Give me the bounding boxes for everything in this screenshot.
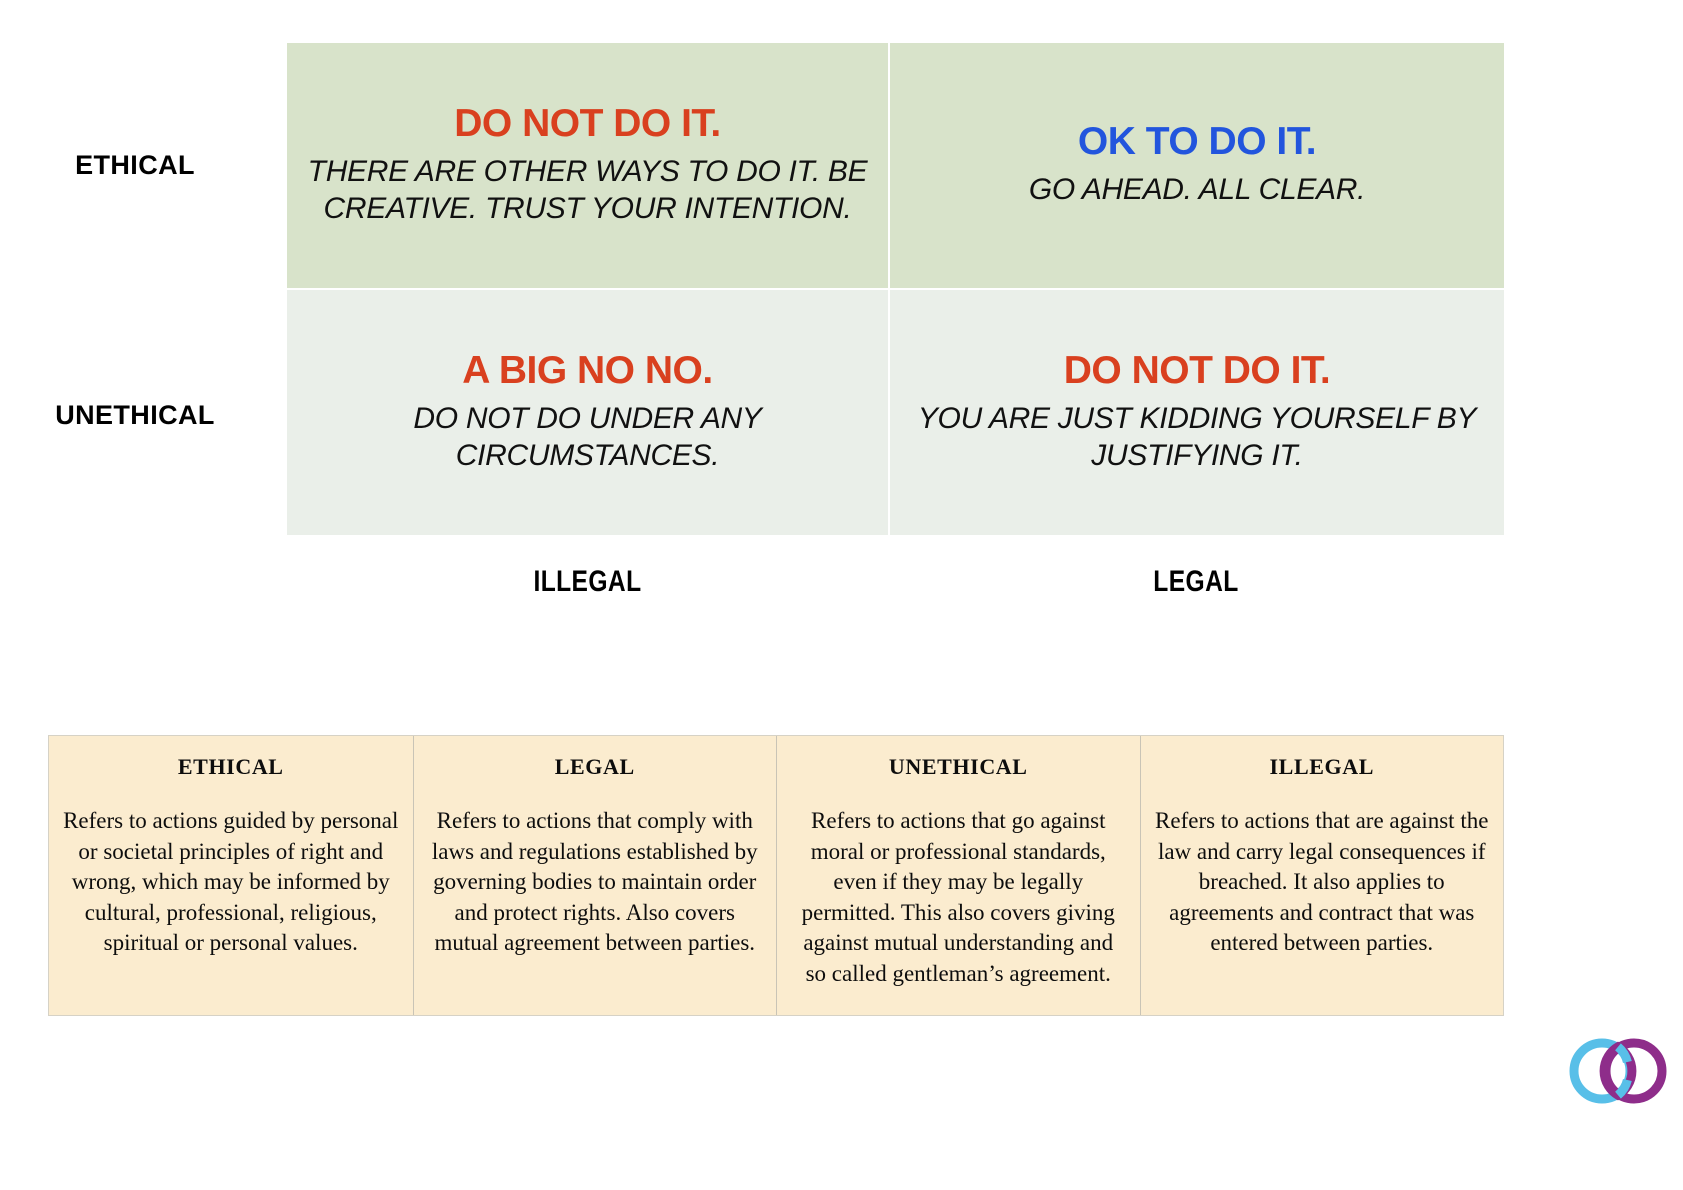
axis-row-label-ethical: ETHICAL: [0, 150, 270, 181]
quadrant-ethical-illegal: DO NOT DO IT. THERE ARE OTHER WAYS TO DO…: [287, 43, 888, 288]
quadrant-subtext: GO AHEAD. ALL CLEAR.: [1029, 171, 1365, 208]
quadrant-headline: OK TO DO IT.: [1078, 122, 1316, 163]
definition-body: Refers to actions that go against moral …: [791, 806, 1126, 989]
quadrant-headline: A BIG NO NO.: [462, 351, 712, 392]
quadrant-headline: DO NOT DO IT.: [454, 104, 721, 145]
definition-title: LEGAL: [428, 754, 763, 780]
quadrant-headline: DO NOT DO IT.: [1064, 351, 1331, 392]
quadrant-unethical-illegal: A BIG NO NO. DO NOT DO UNDER ANY CIRCUMS…: [287, 288, 888, 535]
axis-column-label-illegal: ILLEGAL: [341, 565, 834, 599]
quadrant-subtext: DO NOT DO UNDER ANY CIRCUMSTANCES.: [378, 400, 798, 474]
definition-column-legal: LEGAL Refers to actions that comply with…: [413, 736, 777, 1015]
ethics-legality-matrix: DO NOT DO IT. THERE ARE OTHER WAYS TO DO…: [287, 43, 1504, 535]
definition-title: ILLEGAL: [1155, 754, 1490, 780]
definition-column-unethical: UNETHICAL Refers to actions that go agai…: [776, 736, 1140, 1015]
quadrant-unethical-legal: DO NOT DO IT. YOU ARE JUST KIDDING YOURS…: [888, 288, 1504, 535]
interlocking-rings-logo: [1566, 1034, 1670, 1108]
quadrant-subtext: THERE ARE OTHER WAYS TO DO IT. BE CREATI…: [305, 153, 870, 227]
definition-column-illegal: ILLEGAL Refers to actions that are again…: [1140, 736, 1504, 1015]
axis-row-label-unethical: UNETHICAL: [0, 400, 270, 431]
definition-body: Refers to actions guided by personal or …: [63, 806, 399, 959]
definition-column-ethical: ETHICAL Refers to actions guided by pers…: [49, 736, 413, 1015]
definition-body: Refers to actions that are against the l…: [1155, 806, 1490, 959]
definition-body: Refers to actions that comply with laws …: [428, 806, 763, 959]
quadrant-ethical-legal: OK TO DO IT. GO AHEAD. ALL CLEAR.: [888, 43, 1504, 288]
axis-column-label-legal: LEGAL: [943, 565, 1448, 599]
definition-title: ETHICAL: [63, 754, 399, 780]
definition-title: UNETHICAL: [791, 754, 1126, 780]
definitions-table: ETHICAL Refers to actions guided by pers…: [48, 735, 1504, 1016]
quadrant-subtext: YOU ARE JUST KIDDING YOURSELF BY JUSTIFY…: [917, 400, 1477, 474]
